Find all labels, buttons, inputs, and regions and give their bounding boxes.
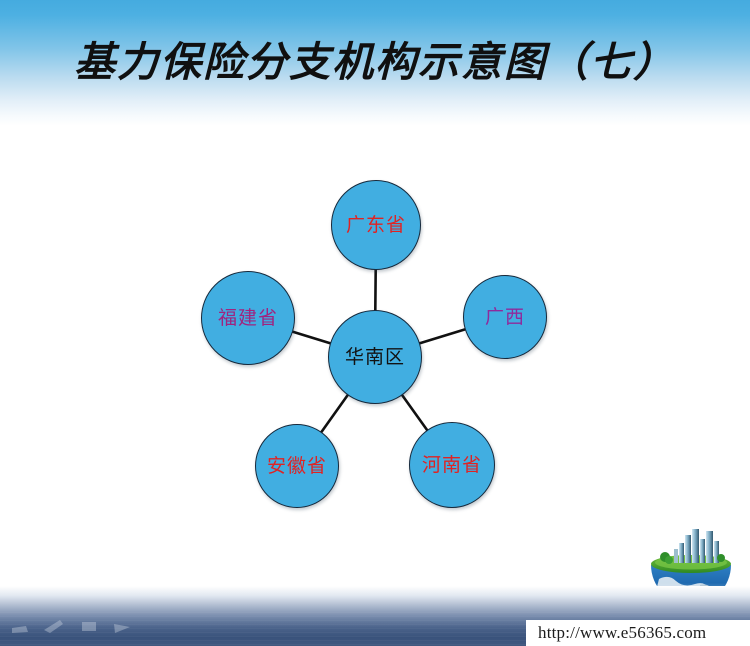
diagram-node-label: 河南省 (422, 456, 482, 475)
diagram-node-branch[interactable]: 河南省 (409, 422, 495, 508)
sea-boats-icon (10, 612, 240, 638)
diagram-node-branch[interactable]: 福建省 (201, 271, 295, 365)
watermark-url-text: http://www.e56365.com (538, 623, 706, 643)
diagram-node-label: 广东省 (346, 216, 406, 235)
diagram-node-center[interactable]: 华南区 (328, 310, 422, 404)
diagram-node-branch[interactable]: 安徽省 (255, 424, 339, 508)
diagram-node-label: 安徽省 (267, 457, 327, 476)
diagram-nodes: 广东省广西河南省安徽省福建省华南区 (0, 0, 750, 646)
diagram-node-branch[interactable]: 广西 (463, 275, 547, 359)
slide-canvas: 基力保险分支机构示意图（七） 广东省广西河南省安徽省福建省华南区 (0, 0, 750, 646)
diagram-node-branch[interactable]: 广东省 (331, 180, 421, 270)
diagram-node-label: 华南区 (345, 348, 405, 367)
watermark-url-box: http://www.e56365.com (526, 620, 750, 646)
diagram-node-label: 广西 (485, 308, 525, 327)
diagram-node-label: 福建省 (218, 309, 278, 328)
